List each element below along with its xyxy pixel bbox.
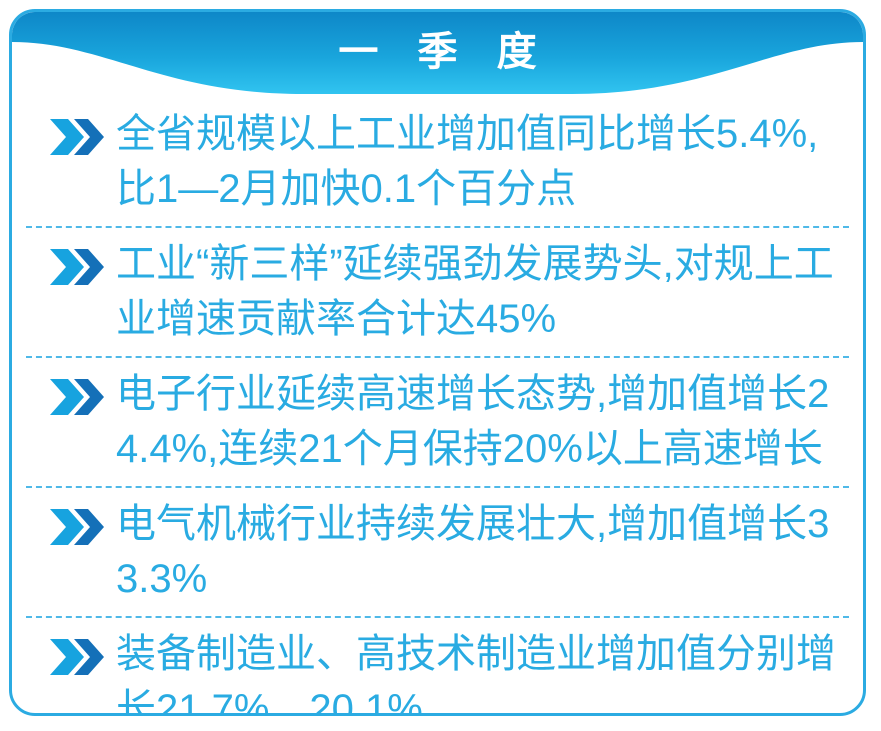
double-chevron-icon xyxy=(48,117,106,157)
list-item: 全省规模以上工业增加值同比增长5.4%,比1—2月加快0.1个百分点 xyxy=(12,98,863,226)
list-item-text: 电子行业延续高速增长态势,增加值增长24.4%,连续21个月保持20%以上高速增… xyxy=(116,367,841,477)
double-chevron-icon xyxy=(48,637,106,677)
header-banner: 一 季 度 xyxy=(12,12,863,104)
double-chevron-icon xyxy=(48,247,106,287)
list-item: 装备制造业、高技术制造业增加值分别增长21.7%、20.1% xyxy=(12,618,863,716)
infographic-card: 一 季 度 全省规模以上工业增加值同比增长5.4%,比1—2月加快0.1个百分点… xyxy=(9,9,866,716)
double-chevron-icon xyxy=(48,377,106,417)
double-chevron-icon xyxy=(48,507,106,547)
list-item: 工业“新三样”延续强劲发展势头,对规上工业增速贡献率合计达45% xyxy=(12,228,863,356)
list-item-text: 工业“新三样”延续强劲发展势头,对规上工业增速贡献率合计达45% xyxy=(116,237,841,347)
double-chevron-glyph xyxy=(48,507,106,547)
list-item-text: 电气机械行业持续发展壮大,增加值增长33.3% xyxy=(116,497,841,607)
double-chevron-glyph xyxy=(48,377,106,417)
bullet-list: 全省规模以上工业增加值同比增长5.4%,比1—2月加快0.1个百分点 工业“新三… xyxy=(12,98,863,716)
page-title: 一 季 度 xyxy=(12,12,863,92)
double-chevron-glyph xyxy=(48,637,106,677)
list-item-text: 装备制造业、高技术制造业增加值分别增长21.7%、20.1% xyxy=(116,627,841,716)
double-chevron-glyph xyxy=(48,247,106,287)
list-item-text: 全省规模以上工业增加值同比增长5.4%,比1—2月加快0.1个百分点 xyxy=(116,107,841,217)
double-chevron-glyph xyxy=(48,117,106,157)
list-item: 电子行业延续高速增长态势,增加值增长24.4%,连续21个月保持20%以上高速增… xyxy=(12,358,863,486)
list-item: 电气机械行业持续发展壮大,增加值增长33.3% xyxy=(12,488,863,616)
